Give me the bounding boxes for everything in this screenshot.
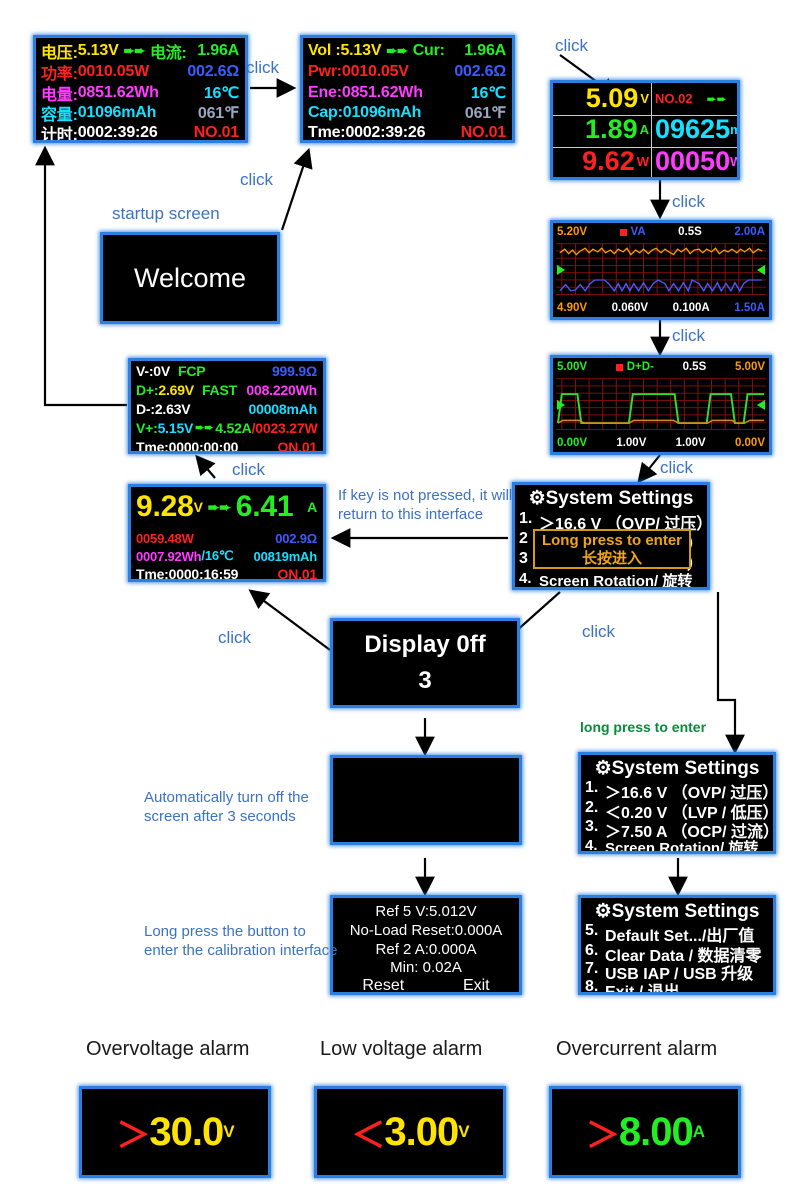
blank-screen-text [333,758,519,842]
overvoltage-op: ＞ [116,1108,149,1157]
settings2-row-8[interactable]: 8. Exit / 退出 [585,978,769,995]
dp-channel: D+D- [627,361,654,373]
big3-power-unit: W [635,154,649,169]
qc-row3-right: 00008mAh [249,401,323,417]
anno-click-5: click [660,458,693,477]
qc-row2-right: 008.220Wh [246,382,323,398]
anno-click-9: click [582,622,615,641]
left-cursor-icon [557,400,565,410]
system-settings-page1-screen[interactable]: ⚙System Settings 1. ＞16.6 V （OVP/ 过压） 2.… [578,752,776,854]
en-row2-value: 0010.05V [342,63,409,81]
main-current: 6.41 [236,492,294,522]
en-row4-value: 01096mAh [343,104,421,122]
cn-row1-right-value: 1.96A [197,42,245,60]
cn-row5-label: 计时: [36,121,78,144]
en-row4-label: Cap: [303,104,343,122]
qc-watts: /0023.27W [252,420,318,436]
cn-row3-value: 0851.62Wh [78,84,159,102]
overcurrent-alarm-title: Overcurrent alarm [556,1038,717,1061]
dpdm-waveform-screen[interactable]: 5.00V D+D- 0.5S 5.00V [550,355,772,455]
cal-line-4: Min: 0.02A [333,959,519,976]
va-top-left: 5.20V [553,226,587,238]
overvoltage-value: 30.0 [149,1110,223,1155]
anno-click-4: click [672,326,705,345]
overvoltage-alarm[interactable]: ＞ 30.0 V [79,1086,271,1178]
overcurrent-alarm[interactable]: ＞ 8.00 A [549,1086,741,1178]
main-voltage: 9.28 [131,492,194,522]
qc-row1-right: 999.9Ω [272,363,323,379]
va-timebase: 0.5S [678,226,702,238]
dp-timebase: 0.5S [683,361,707,373]
va-b3: 0.100A [673,302,710,314]
settings-popup-title: ⚙System Settings [515,487,707,510]
large-digit-screen[interactable]: 5.09 V NO.02 ➨➨ 1.89 A 09625 mAh 9.62 [550,80,740,180]
main-voltage-unit: V [194,499,203,515]
diagram-canvas: 电压: 5.13V ➨➨ 电流: 1.96A 功率: 0010.05W 002.… [0,0,800,1200]
cn-row1-right-label: 电流: [150,39,187,63]
en-row1-right-label: Cur: [413,42,445,60]
qc-row2-value: 2.69V [158,382,194,398]
row-index: 4. [585,837,605,854]
main-capacity: 00819mAh [254,549,323,564]
exit-button[interactable]: Exit [463,977,490,995]
cal-line-2: No-Load Reset:0.000A [333,922,519,939]
qc-row3-label: D-: [131,401,155,417]
en-row3-value: 0851.62Wh [342,84,423,102]
big3-current: 1.89 [585,116,638,143]
settings1-title-text: System Settings [612,758,760,779]
lowvoltage-alarm-title: Low voltage alarm [320,1038,482,1061]
settings2-title: ⚙System Settings [581,900,773,923]
qc-protocol: FCP [170,363,205,379]
dp-top-right: 5.00V [735,361,769,373]
big3-energy-unit: Wh [730,154,737,169]
overcurrent-value: 8.00 [619,1110,693,1155]
popup-line-1: Long press to enter [535,531,689,550]
anno-click-6: click [240,170,273,189]
va-bottom-left: 4.90V [553,302,587,314]
en-row5-label: Tme: [303,124,345,142]
calibration-screen[interactable]: Ref 5 V:5.012V No-Load Reset:0.000A Ref … [330,895,522,995]
va-channel: VA [631,226,646,238]
anno-click-7: click [232,460,265,479]
dp-b2: 1.00V [616,437,646,449]
main-group: ON.01 [278,566,323,582]
settings-popup-title-text: System Settings [546,488,694,509]
anno-auto-off: Automatically turn off the screen after … [144,788,344,826]
qc-row5-label: Tme: [131,439,169,455]
big3-capacity-unit: mAh [730,122,737,137]
lowvoltage-alarm[interactable]: ＜ 3.00 V [314,1086,506,1178]
system-settings-page2-screen[interactable]: ⚙System Settings 5. Default Set.../出厂值 6… [578,895,776,995]
cn-row4-right: 061℉ [198,103,245,123]
settings1-title: ⚙System Settings [581,757,773,780]
cn-row2-value: 0010.05W [78,63,149,81]
qc-row5-right: ON.01 [278,439,323,455]
settings1-row-4[interactable]: 4. Screen Rotation/ 旋转 [585,837,769,854]
long-press-popup[interactable]: Long press to enter 长按进入 [533,529,691,569]
main-power: 0059.48W [131,531,194,546]
anno-click-3: click [672,192,705,211]
system-settings-popup-screen[interactable]: ⚙System Settings 1. ＞16.6 V （OVP/ 过压） 2 … [512,482,710,590]
en-row5-value: 0002:39:26 [345,124,425,142]
en-row5-right: NO.01 [461,124,512,142]
gear-icon: ⚙ [595,758,612,779]
anno-click-8: click [218,628,251,647]
en-row3-label: Ene: [303,84,342,102]
chinese-meter-screen[interactable]: 电压: 5.13V ➨➨ 电流: 1.96A 功率: 0010.05W 002.… [33,35,248,143]
en-row3-right: 16℃ [471,83,512,103]
left-cursor-icon [557,265,565,275]
english-meter-screen[interactable]: Vol : 5.13V ➨➨ Cur: 1.96A Pwr: 0010.05V … [300,35,515,143]
welcome-screen[interactable]: Welcome [100,232,280,324]
cal-line-1: Ref 5 V:5.012V [333,903,519,920]
big3-voltage-unit: V [638,91,649,106]
anno-click-2: click [555,36,588,55]
main-resistance: 002.9Ω [275,531,323,546]
va-plot-area [556,241,766,299]
big3-voltage: 5.09 [586,85,639,112]
welcome-text: Welcome [103,235,277,321]
qc-row1-value: 0V [153,363,170,379]
reset-button[interactable]: Reset [362,977,404,995]
settings-popup-row-4[interactable]: 4. Screen Rotation/ 旋转 [519,570,703,590]
display-off-line2: 3 [418,667,431,695]
big3-current-unit: A [638,122,649,137]
row-index: 8. [585,978,605,995]
qc-row5-value: 0000:00:00 [169,439,239,455]
qc-row3-value: 2.63V [155,401,191,417]
dp-top-left: 5.00V [553,361,587,373]
lowvoltage-op: ＜ [351,1108,384,1157]
display-off-screen[interactable]: Display 0ff 3 [330,618,520,708]
channel-marker-icon [620,229,627,236]
en-row1-value: 5.13V [340,42,381,60]
main-time-label: Tme: [131,566,169,582]
cn-row5-right: NO.01 [194,124,245,142]
qc-row4-label: V+: [131,420,158,436]
big3-group: NO.02 [655,91,693,106]
display-off-line1: Display 0ff [364,631,485,659]
blank-screen[interactable] [330,755,522,845]
flow-arrow-icon: ➨➨ [193,421,215,434]
right-cursor-icon [757,265,765,275]
cal-line-3: Ref 2 A:0.000A [333,941,519,958]
flow-arrow-icon: ➨➨ [386,43,407,59]
main-temp: /16℃ [201,548,233,564]
row-text: Screen Rotation/ 旋转 [539,570,692,590]
right-cursor-icon [757,400,765,410]
popup-line-2: 长按进入 [535,550,689,568]
gear-icon: ⚙ [595,901,612,922]
qc-speed: FAST [194,382,237,398]
en-row1-label: Vol : [303,42,340,60]
row-text: Screen Rotation/ 旋转 [605,837,758,854]
cn-row2-right: 002.6Ω [187,63,245,81]
main-energy: 0007.92Wh [131,549,201,564]
overvoltage-unit: V [223,1122,233,1142]
flow-arrows [0,0,800,1200]
lowvoltage-unit: V [458,1122,468,1142]
cn-row5-value: 0002:39:26 [78,124,158,142]
lowvoltage-value: 3.00 [384,1110,458,1155]
main-current-unit: A [307,499,323,515]
row-index: 4. [519,570,539,590]
va-b2: 0.060V [612,302,648,314]
settings2-title-text: System Settings [612,901,760,922]
en-row1-right-value: 1.96A [464,42,512,60]
anno-no-key-pressed: If key is not pressed, it will return to… [338,486,514,524]
big3-capacity: 09625 [655,116,730,143]
va-waveform-screen[interactable]: 5.20V VA 0.5S 2.00A [550,220,772,320]
big3-energy: 00050 [655,148,730,175]
cn-row1-value: 5.13V [78,42,119,60]
flow-arrow-icon: ➨➨ [203,499,236,516]
qc-row4-value: 5.15V [158,420,194,436]
gear-icon: ⚙ [529,488,546,509]
anno-long-press-enter: long press to enter [580,718,706,737]
dp-bottom-right: 0.00V [735,437,769,449]
overcurrent-unit: A [693,1122,704,1142]
quick-charge-screen[interactable]: V-: 0V FCP 999.9Ω D+: 2.69V FAST 008.220… [128,358,326,454]
qc-row1-label: V-: [131,363,153,379]
row-text: Exit / 退出 [605,978,680,995]
anno-long-press-calibration: Long press the button to enter the calib… [144,922,354,960]
cn-row4-value: 01096mAh [78,104,156,122]
main-readout-screen[interactable]: 9.28 V ➨➨ 6.41 A 0059.48W 002.9Ω 0007.92… [128,484,326,582]
flow-arrow-icon: ➨➨ [707,92,727,106]
en-row2-right: 002.6Ω [454,63,512,81]
flow-arrow-icon: ➨➨ [124,43,145,59]
channel-marker-icon [616,364,623,371]
qc-amps: 4.52A [215,420,251,436]
anno-startup-screen: startup screen [112,204,220,224]
qc-row2-label: D+: [131,382,158,398]
anno-click-1: click [246,58,279,77]
dp-b3: 1.00V [676,437,706,449]
big3-power: 9.62 [582,148,635,175]
en-row4-right: 061℉ [465,103,512,123]
overcurrent-op: ＞ [586,1108,619,1157]
main-time: 0000:16:59 [169,566,239,582]
dp-bottom-left: 0.00V [553,437,587,449]
dpdm-plot-area [556,376,766,434]
cn-row3-right: 16℃ [204,83,245,103]
va-top-right: 2.00A [734,226,769,238]
en-row2-label: Pwr: [303,63,342,81]
va-bottom-right: 1.50A [734,302,769,314]
overvoltage-alarm-title: Overvoltage alarm [86,1038,249,1061]
